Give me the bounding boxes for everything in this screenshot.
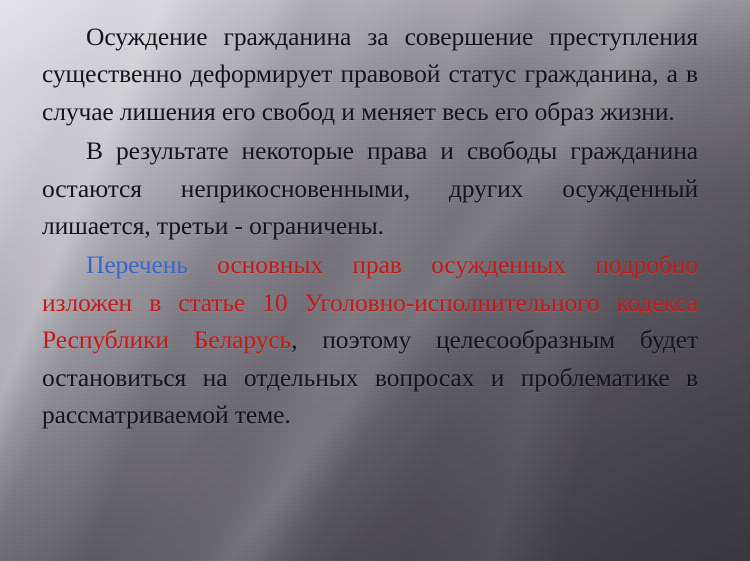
paragraph-1-run-1: Осуждение гражданина за совершение прест… bbox=[42, 22, 698, 126]
presentation-slide: Осуждение гражданина за совершение прест… bbox=[0, 0, 750, 561]
paragraph-3-space bbox=[188, 250, 217, 279]
paragraph-2: В результате некоторые права и свободы г… bbox=[42, 132, 698, 244]
paragraph-3-highlight-perechen: Перечень bbox=[86, 250, 188, 279]
paragraph-1: Осуждение гражданина за совершение прест… bbox=[42, 18, 698, 130]
paragraph-2-run-1: В результате некоторые права и свободы г… bbox=[42, 136, 698, 240]
paragraph-3: Перечень основных прав осужденных подроб… bbox=[42, 246, 698, 433]
slide-text-body: Осуждение гражданина за совершение прест… bbox=[42, 18, 698, 433]
